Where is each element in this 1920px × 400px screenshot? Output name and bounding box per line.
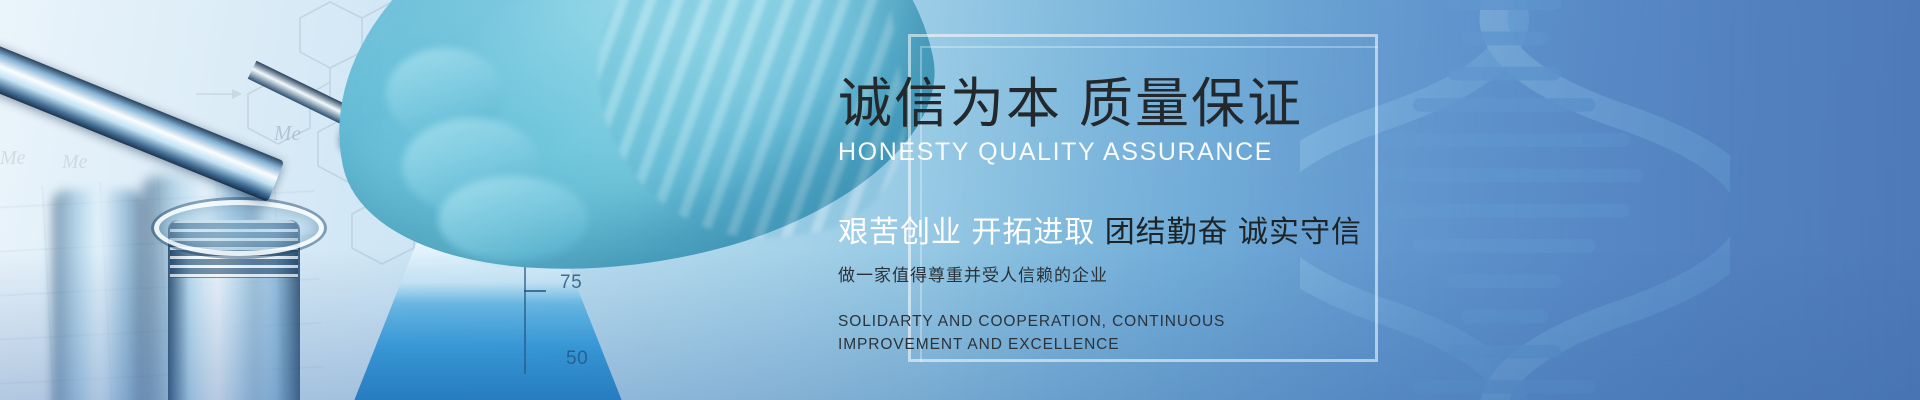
chem-label-me: Me [273,121,301,145]
banner-slogan-sub: 做一家值得尊重并受人信赖的企业 [838,261,1478,286]
hero-banner: Me Me OH Me Me 100 75 50 x. vol. [0,0,1920,400]
slogan-dark-part: 团结勤奋 诚实守信 [1105,216,1362,249]
chem-label-me-4: Me [61,151,88,173]
slogan-light-part: 艰苦创业 开拓进取 [838,216,1095,249]
banner-copy: 诚信为本 质量保证 HONESTY QUALITY ASSURANCE 艰苦创业… [838,76,1478,357]
banner-subheadline: HONESTY QUALITY ASSURANCE [838,138,1478,167]
chem-label-me-3: Me [0,147,26,169]
banner-slogan: 艰苦创业 开拓进取 团结勤奋 诚实守信 [838,207,1478,251]
banner-english-tagline: SOLIDARTY AND COOPERATION, CONTINUOUS IM… [838,310,1348,357]
banner-headline: 诚信为本 质量保证 [838,76,1478,132]
